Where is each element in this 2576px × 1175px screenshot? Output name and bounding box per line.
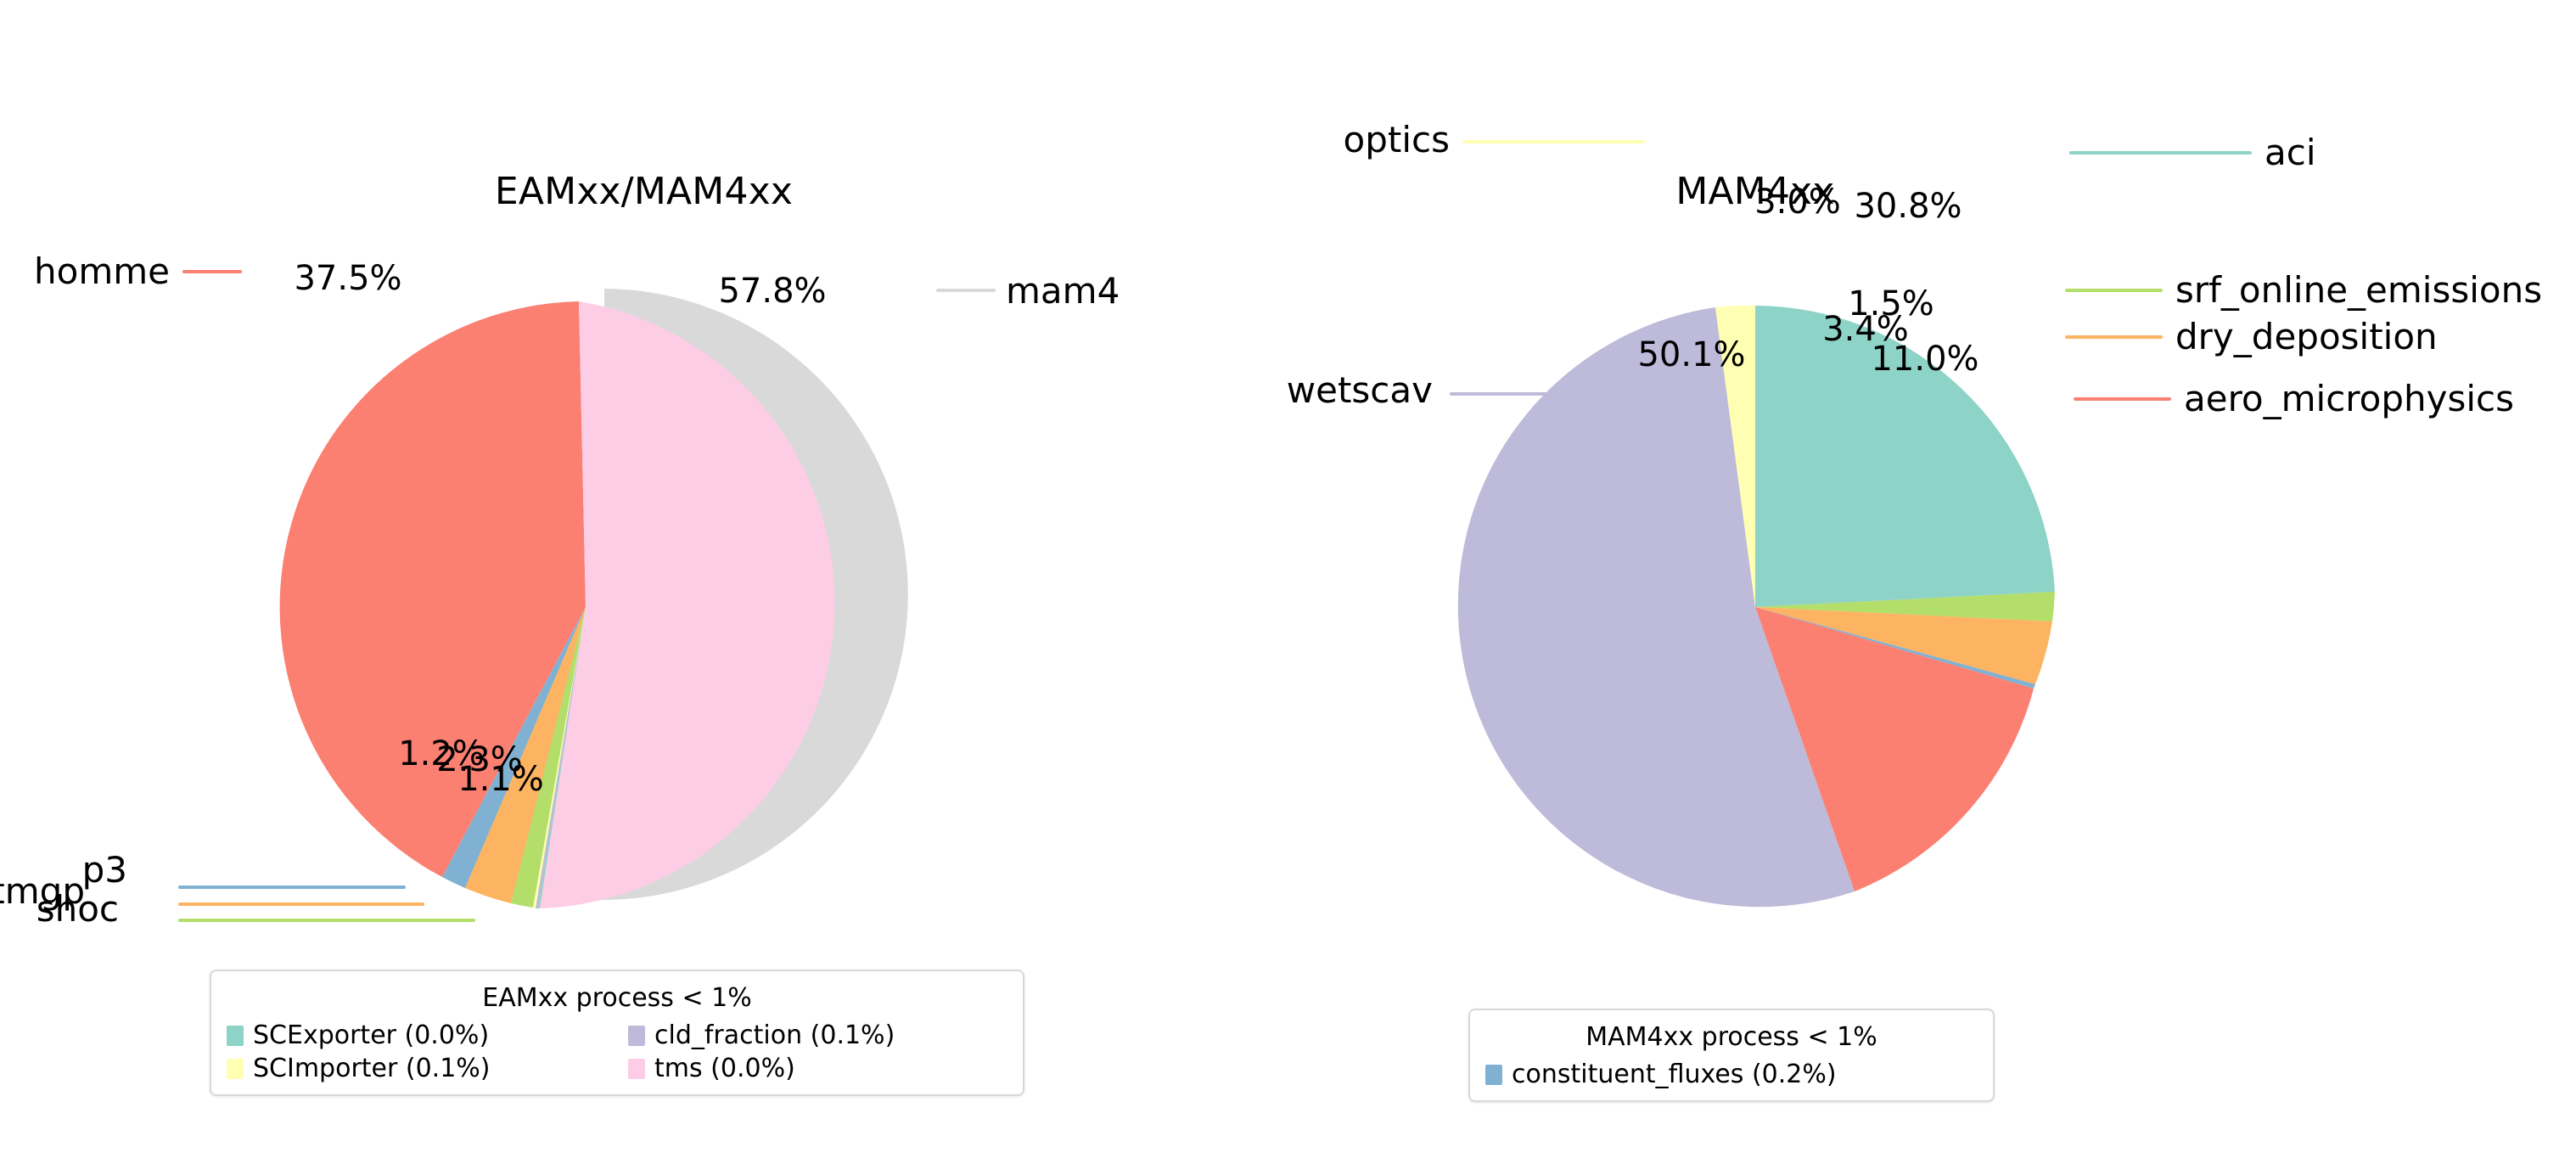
legend-label-tms: tms (0.0%) xyxy=(654,1054,795,1082)
leader-line-wetscav xyxy=(1450,392,1547,396)
legend-title-mam4xx: MAM4xx process < 1% xyxy=(1485,1022,1978,1052)
legend-label-cld-fraction: cld_fraction (0.1%) xyxy=(654,1021,895,1049)
pie-slices-right xyxy=(1458,306,2055,907)
slice-pct-shoc: 1.1% xyxy=(433,760,569,799)
legend-label-constituent-fluxes: constituent_fluxes (0.2%) xyxy=(1512,1060,1837,1088)
legend-swatch-icon-scexporter xyxy=(227,1026,244,1046)
pie-chart-eamxx-mam4xx: EAMxx/MAM4xx xyxy=(0,0,1288,1175)
pie-label-optics: optics xyxy=(1025,119,1450,160)
pie-label-aero: aero_microphysics xyxy=(2184,378,2576,419)
legend-item-scimporter[interactable]: SCImporter (0.1%) xyxy=(227,1054,606,1082)
legend-label-scimporter: SCImporter (0.1%) xyxy=(253,1054,491,1082)
pie-label-srf: srf_online_emissions xyxy=(2175,269,2576,311)
legend-swatch-icon-cld-fraction xyxy=(628,1026,645,1046)
slice-pct-homme: 37.5% xyxy=(255,259,441,298)
leader-line-rrtmgp xyxy=(178,902,424,906)
leader-line-shoc xyxy=(178,919,475,922)
leader-line-homme xyxy=(182,270,242,273)
slice-pct-mam4: 57.8% xyxy=(679,272,866,311)
legend-title-eamxx: EAMxx process < 1% xyxy=(227,983,1007,1013)
leader-line-srf xyxy=(2065,289,2163,292)
legend-label-scexporter: SCExporter (0.0%) xyxy=(253,1021,489,1049)
slice-pct-wetscav: 50.1% xyxy=(1564,335,1819,374)
legend-item-scexporter[interactable]: SCExporter (0.0%) xyxy=(227,1021,606,1049)
pie-label-shoc: shoc xyxy=(0,888,119,930)
leader-line-aci xyxy=(2069,151,2252,155)
legend-swatch-icon-constituent-fluxes xyxy=(1485,1065,1502,1085)
leader-line-optics xyxy=(1462,140,1645,143)
pie-svg-right xyxy=(1288,0,2576,1175)
pie-label-wetscav: wetscav xyxy=(1008,369,1433,411)
slice-pct-aero: 11.0% xyxy=(1798,340,2052,379)
legend-eamxx: EAMxx process < 1% SCExporter (0.0%) cld… xyxy=(210,970,1024,1096)
legend-swatch-icon-scimporter xyxy=(227,1059,244,1079)
pie-label-mam4: mam4 xyxy=(1006,270,1193,312)
legend-item-constituent-fluxes[interactable]: constituent_fluxes (0.2%) xyxy=(1485,1060,1978,1088)
figure-canvas: EAMxx/MAM4xx xyxy=(0,0,2576,1175)
pie-label-homme: homme xyxy=(0,250,170,292)
slice-pct-aci: 30.8% xyxy=(1781,187,2035,226)
legend-item-cld-fraction[interactable]: cld_fraction (0.1%) xyxy=(628,1021,1007,1049)
legend-mam4xx: MAM4xx process < 1% constituent_fluxes (… xyxy=(1468,1009,1995,1102)
leader-line-dry xyxy=(2065,335,2163,339)
leader-line-p3 xyxy=(178,885,406,889)
pie-chart-mam4xx: MAM4xx 3.0% 30.8% 1.5% xyxy=(1288,0,2576,1175)
leader-line-mam4 xyxy=(936,289,996,292)
leader-line-aero xyxy=(2074,397,2171,401)
pie-label-aci: aci xyxy=(2265,132,2519,173)
legend-swatch-icon-tms xyxy=(628,1059,645,1079)
pie-slices-left xyxy=(280,289,908,908)
legend-item-tms[interactable]: tms (0.0%) xyxy=(628,1054,1007,1082)
pie-label-dry: dry_deposition xyxy=(2175,316,2557,357)
